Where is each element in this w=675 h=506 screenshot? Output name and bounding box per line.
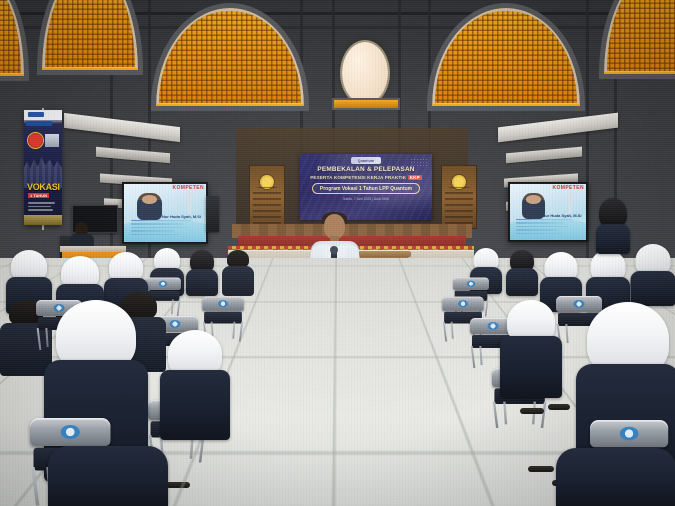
audience-member — [630, 244, 675, 306]
student-shoe — [520, 408, 544, 414]
chair-sticker — [467, 281, 476, 287]
chair-sticker — [159, 281, 168, 287]
rollup-seal-icon — [28, 133, 43, 148]
foreground-student-left-lower — [48, 446, 168, 506]
banner-logo: Quantum — [351, 157, 381, 164]
rollup-headline: VOKASI — [27, 182, 60, 192]
rollup-footer-strip — [24, 215, 62, 225]
uniform-torso — [186, 269, 218, 296]
arch-sill — [42, 68, 138, 70]
window-slat-right-1 — [506, 147, 582, 164]
uniform-torso — [630, 271, 675, 306]
arch-sill — [432, 104, 580, 106]
uniform-torso — [222, 266, 254, 296]
banner-date-line: Sabtu, 7 Juni 2025 | Aula SMK — [343, 197, 389, 201]
slide-right: KOMPETEN Nur Huda Syah, M.Si — [510, 184, 586, 240]
rollup-photo-chip — [45, 134, 59, 147]
rollup-subhead: 1 TAHUN — [28, 193, 49, 198]
student-shoe — [548, 404, 570, 410]
chair-back — [30, 418, 111, 446]
gold-ornament-panel-left — [250, 166, 284, 228]
uniform-skirt — [556, 448, 675, 506]
gold-panel-arcs — [445, 187, 474, 224]
audience-member — [596, 198, 630, 254]
audience-member — [506, 250, 538, 296]
photo-scene: Quantum PEMBEKALAN & PELEPASAN PESERTA K… — [0, 0, 675, 506]
slide-tower-graphic — [188, 191, 191, 214]
banner-dot-pattern — [410, 158, 428, 168]
uniform-skirt — [48, 446, 168, 506]
audience-member — [186, 250, 218, 296]
slide-wave-graphic — [124, 220, 206, 242]
banner-subtitle-text: PESERTA KOMPETENSI KERJA PRAKTIK — [310, 175, 406, 180]
soffit-right — [498, 113, 618, 143]
chair-sticker — [170, 320, 181, 328]
uniform-torso — [160, 370, 230, 440]
gold-panel-arcs — [253, 187, 282, 224]
gold-ornament-panel-right — [442, 166, 476, 228]
chair-back — [442, 297, 483, 311]
chair-back — [590, 420, 668, 447]
rollup-logo — [28, 112, 44, 117]
slide-wave-graphic — [510, 219, 586, 240]
uniform-torso — [596, 224, 630, 254]
chair-sticker — [218, 300, 228, 307]
soffit-left — [64, 113, 180, 142]
projection-screen-right: KOMPETEN Nur Huda Syah, M.Si — [508, 182, 588, 242]
slide-left: KOMPETEN Nur Huda Syah, M.Si — [124, 184, 206, 242]
foreground-student-right-lower — [556, 448, 675, 506]
arch-lattice-left — [42, 0, 138, 70]
audience-member — [160, 330, 230, 440]
banner-program-pill: Program Vokasi 1 Tahun LPP Quantum — [312, 183, 420, 194]
banner-subtitle: PESERTA KOMPETENSI KERJA PRAKTIK KKP — [310, 175, 422, 180]
chair-sticker — [488, 322, 499, 330]
student-shoe — [528, 466, 554, 472]
slide-tower-graphic — [569, 191, 572, 213]
chair-sticker — [620, 427, 639, 441]
chair-sticker — [458, 300, 468, 307]
slide-brand-label: KOMPETEN — [552, 185, 584, 191]
slide-speaker-name: Nur Huda Syah, M.Si — [162, 214, 201, 219]
banner-title: PEMBEKALAN & PELEPASAN — [317, 166, 414, 173]
audience-member — [500, 300, 562, 398]
rollup-banner-vokasi: VOKASI 1 TAHUN — [24, 110, 62, 225]
window-slat-left-1 — [96, 147, 170, 163]
uniform-torso — [506, 268, 538, 296]
event-banner: Quantum PEMBEKALAN & PELEPASAN PESERTA K… — [300, 154, 432, 220]
projection-screen-left: KOMPETEN Nur Huda Syah, M.Si — [122, 182, 208, 244]
student-shoe — [166, 482, 190, 488]
window-ledge — [334, 100, 398, 108]
uniform-torso — [500, 336, 562, 398]
pa-speaker-right — [206, 196, 219, 232]
arch-lattice-center-left — [156, 8, 304, 106]
audience-member — [222, 250, 254, 296]
chair-back — [202, 297, 243, 311]
rollup-tagline-bar — [26, 121, 52, 126]
chair-sticker — [61, 425, 80, 439]
chair-back — [453, 278, 489, 290]
rollup-body-lines — [28, 202, 58, 213]
arch-lattice-right — [604, 0, 675, 74]
banner-kkp-badge: KKP — [408, 175, 422, 180]
slide-speaker-photo — [137, 193, 162, 220]
chair-legs — [493, 402, 546, 428]
arch-sill — [0, 74, 24, 76]
oval-window — [342, 42, 388, 104]
slide-speaker-name: Nur Huda Syah, M.Si — [542, 213, 581, 218]
arch-sill — [604, 72, 675, 74]
arch-sill — [156, 104, 304, 106]
chair-back — [145, 278, 181, 290]
arch-lattice-center-right — [432, 8, 580, 106]
